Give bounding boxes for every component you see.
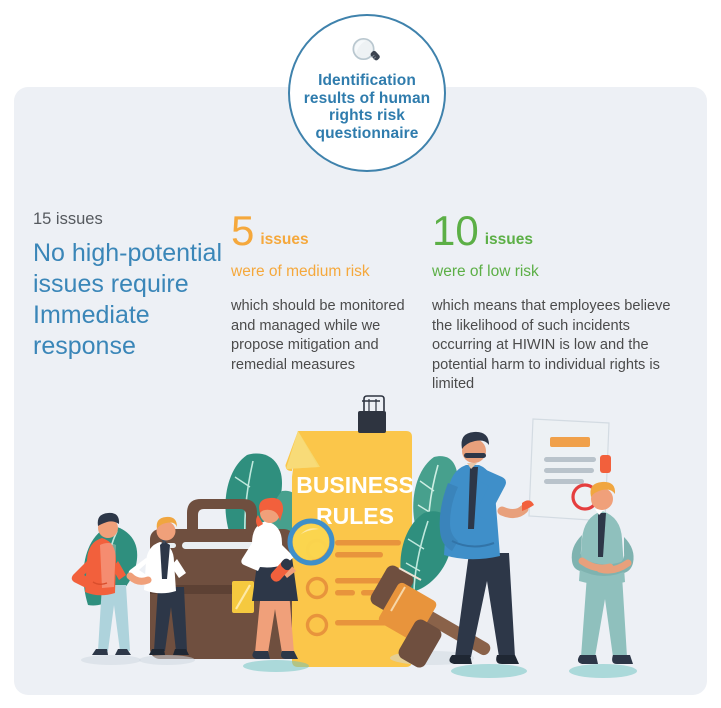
stat-unit: issues (485, 232, 533, 248)
clipboard-clip (358, 396, 386, 433)
stat-risk-label: were of medium risk (231, 262, 411, 281)
stat-unit: issues (260, 232, 308, 248)
stat-description: which means that employees believe the l… (432, 297, 694, 395)
badge-title-line-2: results of human (304, 90, 430, 107)
badge-title-line-3: rights risk (329, 107, 405, 124)
person-red-jacket (72, 513, 141, 665)
stat-kicker: 15 issues (33, 209, 223, 229)
stat-count-row: 10 issues (432, 210, 694, 252)
clipboard-title-line2: RULES (316, 503, 394, 529)
stat-medium-risk: 5 issues were of medium risk which shoul… (231, 210, 411, 375)
stat-risk-label: were of low risk (432, 262, 694, 281)
clipboard-title-line1: BUSINESS (296, 472, 414, 498)
stat-low-risk: 10 issues were of low risk which means t… (432, 210, 694, 395)
stat-headline: No high-potential issues require Immedia… (33, 238, 223, 362)
badge-title-line-4: questionnaire (316, 125, 419, 142)
badge-title: Identification results of human rights r… (296, 72, 438, 142)
magnifying-glass-icon (350, 37, 384, 67)
infographic-root: Identification results of human rights r… (0, 0, 721, 708)
stat-count: 10 (432, 210, 479, 252)
stat-count-row: 5 issues (231, 210, 411, 252)
stat-description: which should be monitored and managed wh… (231, 297, 411, 375)
identification-badge: Identification results of human rights r… (288, 14, 446, 172)
badge-title-line-1: Identification (318, 72, 416, 89)
business-rules-compliance-illustration: BUSINESS RULES (14, 395, 707, 685)
stat-count: 5 (231, 210, 254, 252)
stat-high-potential: 15 issues No high-potential issues requi… (33, 209, 223, 362)
